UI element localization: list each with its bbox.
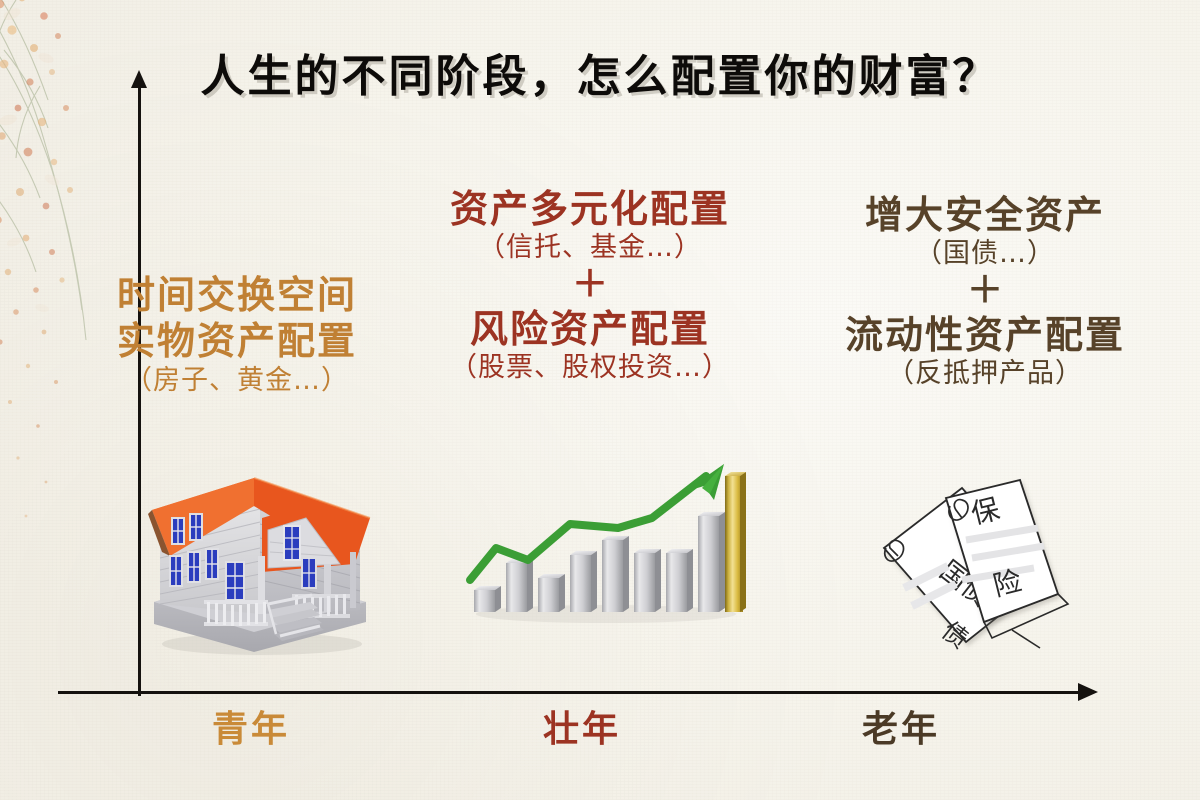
stage-prime-line-5: （股票、股权投资…） xyxy=(400,352,780,385)
stage-prime-line-4: 风险资产配置 xyxy=(400,306,780,352)
stage-elder-line-4: 流动性资产配置 xyxy=(800,312,1170,358)
stage-youth-line-2: 实物资产配置 xyxy=(72,318,402,364)
stage-prime-plus-sign: ＋ xyxy=(400,266,780,304)
page-title: 人生的不同阶段，怎么配置你的财富？ xyxy=(0,40,1200,104)
x-axis-line xyxy=(58,691,1086,694)
stage-prime-text-block: 资产多元化配置 （信托、基金…） ＋ 风险资产配置 （股票、股权投资…） xyxy=(400,186,780,385)
stage-prime-line-2: （信托、基金…） xyxy=(400,232,780,265)
stage-elder-line-2: （国债…） xyxy=(800,238,1170,271)
stage-elder-plus-sign: ＋ xyxy=(800,272,1170,310)
growth-bar-chart-illustration xyxy=(466,462,746,630)
axis-label-prime: 壮年 xyxy=(543,700,621,752)
stage-youth-line-3: （房子、黄金…） xyxy=(72,365,402,398)
stage-prime-line-1: 资产多元化配置 xyxy=(400,186,780,232)
axis-label-youth: 青年 xyxy=(212,700,290,752)
stage-elder-text-block: 增大安全资产 （国债…） ＋ 流动性资产配置 （反抵押产品） xyxy=(800,192,1170,391)
paper-grain-overlay xyxy=(0,0,1200,800)
stage-youth-text-block: 时间交换空间 实物资产配置 （房子、黄金…） xyxy=(72,272,402,398)
stage-elder-line-1: 增大安全资产 xyxy=(800,192,1170,238)
infographic-canvas: 人生的不同阶段，怎么配置你的财富？ 时间交换空间 实物资产配置 （房子、黄金…）… xyxy=(0,0,1200,800)
y-axis-arrowhead-icon xyxy=(131,70,147,88)
stage-elder-line-5: （反抵押产品） xyxy=(800,358,1170,391)
x-axis-arrowhead-icon xyxy=(1078,683,1098,701)
bond-insurance-documents-illustration: 国债 保 险 债 xyxy=(862,462,1112,652)
stage-youth-line-1: 时间交换空间 xyxy=(72,272,402,318)
axis-label-elder: 老年 xyxy=(862,700,940,752)
house-illustration xyxy=(142,452,372,657)
